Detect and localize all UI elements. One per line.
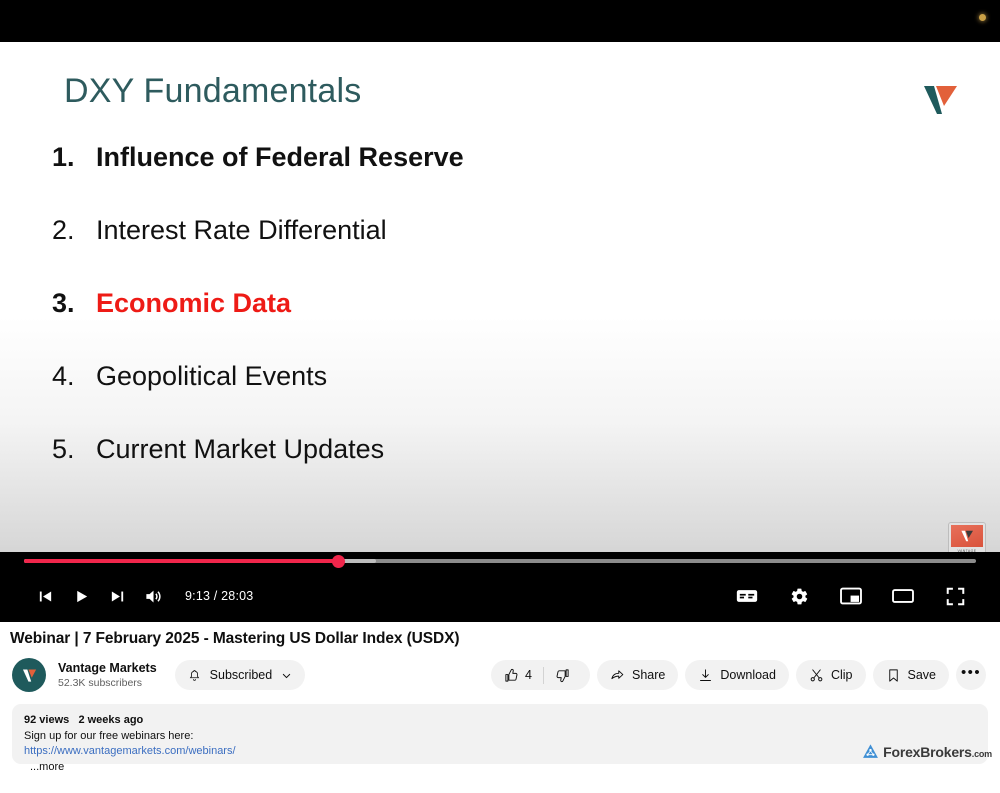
vantage-v-logo-icon bbox=[920, 80, 960, 120]
channel-and-actions-row: Vantage Markets 52.3K subscribers Subscr… bbox=[0, 658, 1000, 692]
subscribed-button[interactable]: Subscribed bbox=[175, 660, 306, 690]
settings-button[interactable] bbox=[782, 579, 816, 613]
list-item-number: 1. bbox=[52, 142, 96, 173]
fullscreen-button[interactable] bbox=[938, 579, 972, 613]
forexbrokers-brand: ForexBrokers bbox=[883, 744, 972, 760]
clip-button[interactable]: Clip bbox=[796, 660, 866, 690]
list-item-text: Interest Rate Differential bbox=[96, 215, 387, 246]
channel-info[interactable]: Vantage Markets 52.3K subscribers bbox=[58, 661, 157, 690]
publish-date: 2 weeks ago bbox=[78, 714, 143, 726]
miniplayer-icon bbox=[840, 587, 862, 605]
next-icon bbox=[109, 588, 126, 605]
play-button[interactable] bbox=[64, 579, 98, 613]
play-icon bbox=[73, 588, 90, 605]
description-link[interactable]: https://www.vantagemarkets.com/webinars/ bbox=[24, 744, 976, 760]
save-label: Save bbox=[908, 668, 937, 682]
channel-watermark-badge[interactable]: VANTAGE bbox=[948, 522, 986, 556]
list-item: 5. Current Market Updates bbox=[52, 434, 852, 507]
description-line-1: Sign up for our free webinars here: bbox=[24, 729, 976, 745]
share-label: Share bbox=[632, 668, 665, 682]
recording-indicator-dot bbox=[979, 14, 986, 21]
channel-watermark-logo-icon bbox=[951, 525, 983, 547]
thumbs-up-icon bbox=[504, 668, 519, 683]
player-top-bar bbox=[0, 0, 1000, 42]
share-icon bbox=[610, 668, 625, 683]
description-stats: 92 views 2 weeks ago bbox=[24, 713, 976, 729]
progress-scrubber-handle[interactable] bbox=[332, 555, 345, 568]
player-control-bar: 9:13 / 28:03 bbox=[0, 570, 1000, 622]
thumbs-down-icon bbox=[555, 668, 570, 683]
progress-track[interactable] bbox=[24, 559, 976, 563]
previous-icon bbox=[37, 588, 54, 605]
slide-bullet-list: 1. Influence of Federal Reserve 2. Inter… bbox=[52, 142, 852, 507]
view-count: 92 views bbox=[24, 714, 69, 726]
volume-icon bbox=[144, 587, 163, 606]
vantage-avatar-logo-icon bbox=[18, 664, 40, 686]
list-item-number: 5. bbox=[52, 434, 96, 465]
description-box[interactable]: 92 views 2 weeks ago Sign up for our fre… bbox=[12, 704, 988, 764]
subscribed-label: Subscribed bbox=[210, 668, 273, 682]
closed-captions-icon bbox=[736, 588, 758, 604]
channel-subscriber-count: 52.3K subscribers bbox=[58, 676, 157, 690]
channel-name[interactable]: Vantage Markets bbox=[58, 661, 157, 676]
slide-title: DXY Fundamentals bbox=[64, 72, 361, 111]
theater-mode-button[interactable] bbox=[886, 579, 920, 613]
page-title: Webinar | 7 February 2025 - Mastering US… bbox=[10, 630, 1000, 648]
forexbrokers-wordmark: ForexBrokers.com bbox=[883, 744, 992, 760]
chevron-down-icon bbox=[281, 670, 292, 681]
list-item-number: 4. bbox=[52, 361, 96, 392]
forexbrokers-logo-icon bbox=[862, 743, 879, 760]
list-item: 4. Geopolitical Events bbox=[52, 361, 852, 434]
like-button[interactable]: 4 bbox=[491, 660, 543, 690]
bell-icon bbox=[188, 669, 201, 682]
list-item-text: Current Market Updates bbox=[96, 434, 384, 465]
video-metadata-section: Webinar | 7 February 2025 - Mastering US… bbox=[0, 622, 1000, 764]
clip-label: Clip bbox=[831, 668, 853, 682]
list-item: 3. Economic Data bbox=[52, 288, 852, 361]
progress-played bbox=[24, 559, 338, 563]
scissors-icon bbox=[809, 668, 824, 683]
captions-button[interactable] bbox=[730, 579, 764, 613]
download-icon bbox=[698, 668, 713, 683]
forexbrokers-watermark: ForexBrokers.com bbox=[862, 743, 992, 760]
next-video-button[interactable] bbox=[100, 579, 134, 613]
miniplayer-button[interactable] bbox=[834, 579, 868, 613]
list-item: 2. Interest Rate Differential bbox=[52, 215, 852, 288]
show-more-button[interactable]: ...more bbox=[24, 760, 976, 776]
volume-button[interactable] bbox=[136, 579, 170, 613]
bookmark-icon bbox=[886, 668, 901, 683]
list-item-text: Economic Data bbox=[96, 288, 291, 319]
dislike-button[interactable] bbox=[544, 660, 590, 690]
save-button[interactable]: Save bbox=[873, 660, 950, 690]
presentation-slide: DXY Fundamentals 1. Influence of Federal… bbox=[0, 42, 1000, 570]
download-label: Download bbox=[720, 668, 776, 682]
progress-bar-area[interactable] bbox=[0, 552, 1000, 570]
list-item: 1. Influence of Federal Reserve bbox=[52, 142, 852, 215]
share-button[interactable]: Share bbox=[597, 660, 678, 690]
list-item-number: 2. bbox=[52, 215, 96, 246]
list-item-text: Geopolitical Events bbox=[96, 361, 327, 392]
gear-icon bbox=[790, 587, 809, 606]
fullscreen-icon bbox=[946, 587, 965, 606]
like-count: 4 bbox=[525, 668, 532, 682]
list-item-text: Influence of Federal Reserve bbox=[96, 142, 464, 173]
list-item-number: 3. bbox=[52, 288, 96, 319]
theater-icon bbox=[892, 587, 914, 605]
video-action-buttons: 4 Share Download bbox=[484, 660, 986, 690]
avatar[interactable] bbox=[12, 658, 46, 692]
forexbrokers-suffix: .com bbox=[972, 749, 992, 759]
time-display: 9:13 / 28:03 bbox=[185, 589, 253, 603]
previous-video-button[interactable] bbox=[28, 579, 62, 613]
video-player[interactable]: DXY Fundamentals 1. Influence of Federal… bbox=[0, 0, 1000, 622]
download-button[interactable]: Download bbox=[685, 660, 789, 690]
like-dislike-group: 4 bbox=[491, 660, 590, 690]
more-options-button[interactable]: ••• bbox=[956, 660, 986, 690]
